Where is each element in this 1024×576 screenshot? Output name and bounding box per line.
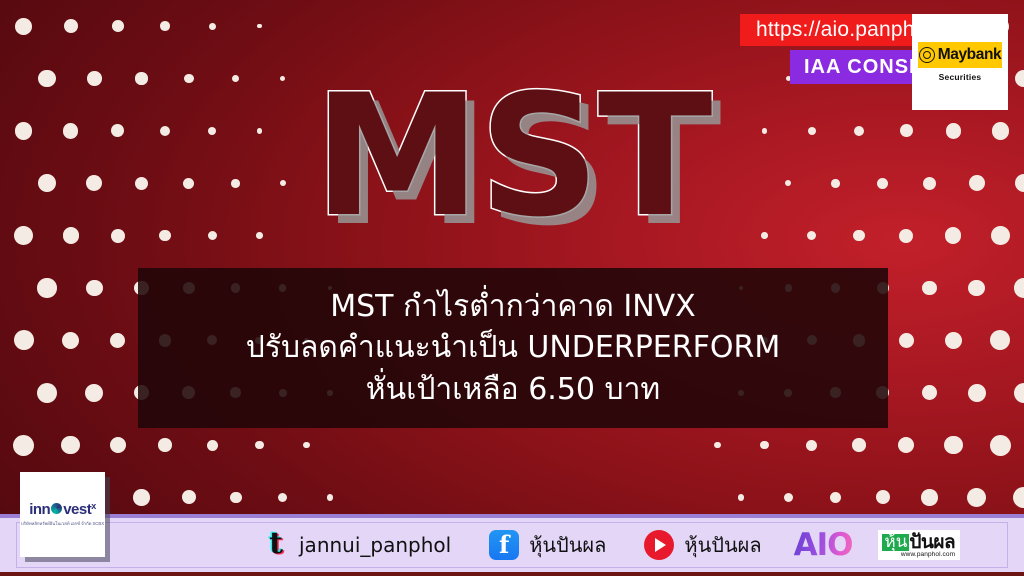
decorative-dot: [945, 332, 962, 349]
decorative-dot: [158, 438, 172, 452]
decorative-dot: [990, 435, 1011, 456]
decorative-dot: [784, 493, 793, 502]
decorative-dot: [327, 494, 334, 501]
decorative-dot: [852, 438, 866, 452]
decorative-dot: [278, 493, 287, 502]
decorative-dot: [209, 23, 216, 30]
decorative-dot: [1013, 487, 1024, 508]
maybank-wordmark-bar: Maybank: [918, 42, 1002, 68]
footer-item-tiktok[interactable]: t jannui_panphol: [263, 530, 451, 560]
title-line-1: MST กำไรต่ำกว่าคาด INVX: [330, 287, 695, 327]
decorative-dot: [967, 488, 986, 507]
innovestx-tagline: บริษัทหลักทรัพย์อินโนเวสท์ เอกซ์ จำกัด S…: [21, 520, 104, 527]
decorative-dot: [160, 21, 169, 30]
decorative-dot: [898, 437, 914, 453]
panphol-url: www.panphol.com: [901, 551, 955, 558]
decorative-dot: [37, 383, 57, 403]
poster-canvas: https://aio.panphol.com IAA CONSENSUS Ma…: [0, 0, 1024, 576]
panphol-black-text: ปันผล: [909, 533, 955, 553]
decorative-dot: [876, 490, 890, 504]
headline-title-box: MST กำไรต่ำกว่าคาด INVX ปรับลดคำแนะนำเป็…: [138, 268, 888, 428]
innovestx-o-icon: [51, 503, 62, 514]
footer-item-panphol[interactable]: หุ้น ปันผล www.panphol.com: [878, 530, 960, 561]
innovestx-wordmark: inn vest x: [29, 502, 96, 517]
tiktok-handle: jannui_panphol: [299, 533, 451, 557]
decorative-dot: [15, 18, 32, 35]
title-line-3: หั่นเป้าเหลือ 6.50 บาท: [366, 370, 660, 410]
decorative-dot: [255, 441, 264, 450]
panphol-wordmark-row: หุ้น ปันผล: [882, 533, 955, 553]
facebook-icon: f: [489, 530, 519, 560]
decorative-dot: [61, 436, 79, 454]
decorative-dot: [922, 281, 936, 295]
title-line-2: ปรับลดคำแนะนำเป็น UNDERPERFORM: [246, 328, 780, 368]
decorative-dot: [944, 436, 962, 454]
maybank-tiger-icon: [919, 47, 935, 63]
maybank-name: Maybank: [938, 46, 1002, 64]
decorative-dot: [14, 330, 34, 350]
innovestx-word-a: inn: [29, 502, 50, 517]
decorative-dot: [133, 489, 150, 506]
decorative-dot: [112, 20, 124, 32]
ticker-headline: MST: [0, 72, 1024, 240]
decorative-dot: [13, 435, 34, 456]
decorative-dot: [921, 489, 938, 506]
tiktok-icon: t: [263, 530, 289, 560]
maybank-subtitle: Securities: [939, 72, 982, 82]
footer-item-youtube[interactable]: หุ้นปันผล: [644, 529, 761, 561]
decorative-dot: [64, 19, 78, 33]
decorative-dot: [922, 385, 938, 401]
decorative-dot: [738, 494, 745, 501]
facebook-page-name: หุ้นปันผล: [529, 529, 606, 561]
footer-item-facebook[interactable]: f หุ้นปันผล: [489, 529, 606, 561]
decorative-dot: [257, 24, 261, 28]
decorative-dot: [303, 442, 309, 448]
innovestx-logo: inn vest x บริษัทหลักทรัพย์อินโนเวสท์ เอ…: [20, 472, 105, 557]
aio-logo: AIO: [794, 530, 853, 561]
decorative-dot: [1014, 278, 1024, 297]
youtube-channel-name: หุ้นปันผล: [684, 529, 761, 561]
decorative-dot: [714, 442, 720, 448]
decorative-dot: [230, 492, 242, 504]
innovestx-word-b: vest: [63, 502, 91, 517]
decorative-dot: [86, 280, 103, 297]
decorative-dot: [110, 333, 125, 348]
decorative-dot: [806, 440, 817, 451]
decorative-dot: [182, 490, 196, 504]
maybank-securities-logo: Maybank Securities: [912, 14, 1008, 110]
panphol-green-text: หุ้น: [882, 534, 909, 552]
social-footer-bar: t jannui_panphol f หุ้นปันผล หุ้นปันผล A…: [0, 514, 1024, 576]
decorative-dot: [85, 384, 103, 402]
panphol-logo: หุ้น ปันผล www.panphol.com: [878, 530, 960, 561]
decorative-dot: [62, 332, 79, 349]
footer-item-aio[interactable]: AIO: [794, 530, 853, 561]
decorative-dot: [1014, 383, 1024, 403]
decorative-dot: [37, 278, 56, 297]
decorative-dot: [830, 492, 842, 504]
youtube-icon: [644, 530, 674, 560]
decorative-dot: [207, 440, 218, 451]
decorative-dot: [110, 437, 126, 453]
innovestx-superscript: x: [91, 502, 96, 511]
decorative-dot: [990, 330, 1010, 350]
decorative-dot: [899, 333, 914, 348]
decorative-dot: [968, 384, 986, 402]
decorative-dot: [968, 280, 985, 297]
decorative-dot: [760, 441, 769, 450]
